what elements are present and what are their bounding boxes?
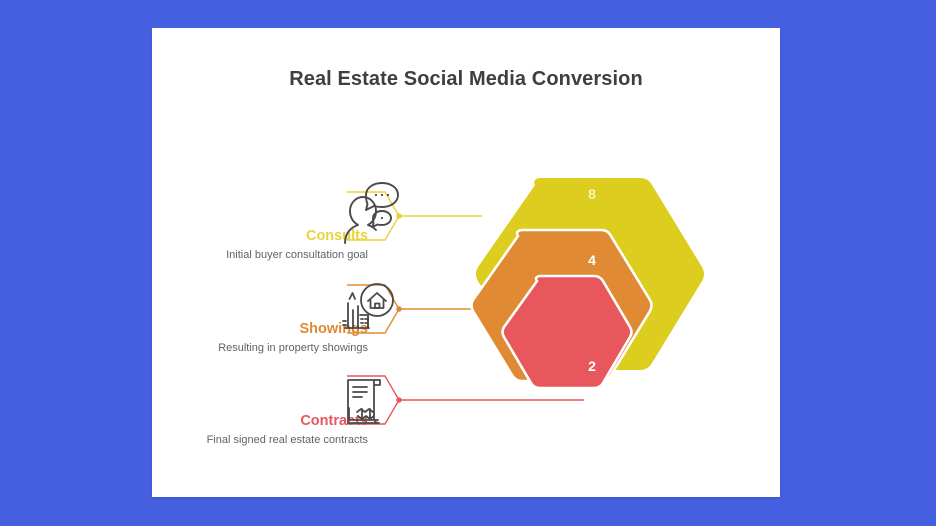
content-card: Real Estate Social Media Conversion Cons… <box>152 28 780 497</box>
connector-consults <box>347 192 482 240</box>
contract-handshake-icon <box>348 380 380 423</box>
contracts-connector-dot <box>396 397 402 403</box>
funnel-value-showings: 4 <box>588 252 596 268</box>
house-in-circle-icon <box>343 284 393 328</box>
funnel-value-consults: 8 <box>588 186 596 202</box>
slide-canvas: Real Estate Social Media Conversion Cons… <box>0 0 936 526</box>
showings-connector-dot <box>396 306 402 312</box>
consults-connector-dot <box>396 213 402 219</box>
funnel-value-contracts: 2 <box>588 358 596 374</box>
funnel-diagram: 8 4 2 <box>152 28 780 497</box>
